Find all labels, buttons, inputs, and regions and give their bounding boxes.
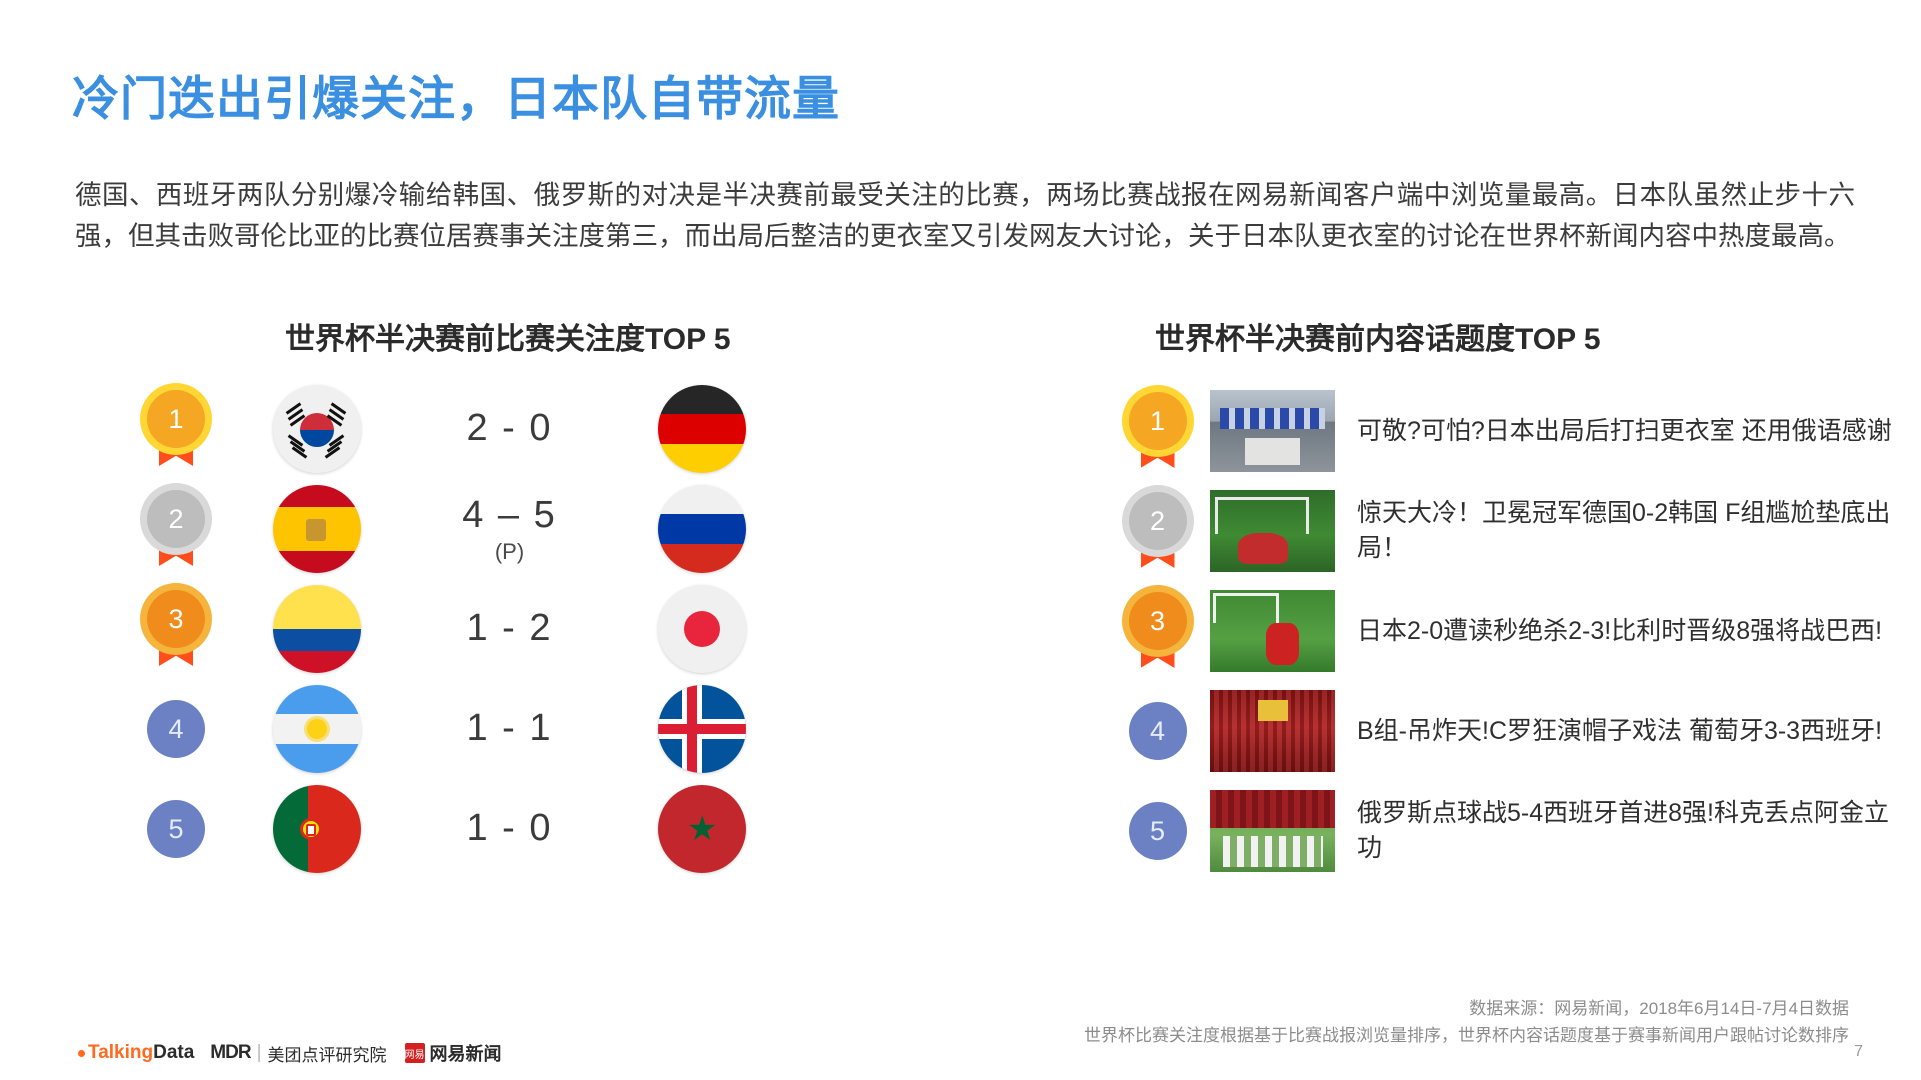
rank-cell: 5 [120, 800, 232, 858]
rank-cell: 4 [1105, 702, 1210, 760]
home-flag-cell [232, 785, 402, 873]
home-flag-cell [232, 485, 402, 573]
list-item[interactable]: 4 B组-吊炸天!C罗狂演帽子戏法 葡萄牙3-3西班牙! [1105, 682, 1905, 780]
iceland-flag [658, 685, 746, 773]
japan-flag [658, 585, 746, 673]
rank-cell: 2 [1105, 492, 1210, 570]
flag-cross-red [658, 724, 746, 734]
korea-flag [273, 385, 361, 473]
match-row: 2 4 – 5 (P) [120, 480, 940, 578]
score-cell: 1 - 2 [402, 607, 617, 652]
argentina-flag [273, 685, 361, 773]
talkingdata-logo: TalkingData [78, 1042, 194, 1064]
rank-cell: 2 [120, 490, 232, 568]
talkingdata-accent: Talking [88, 1042, 153, 1064]
rank-cell: 3 [1105, 592, 1210, 670]
flag-band [273, 744, 361, 773]
locker-room-photo [1210, 390, 1335, 472]
rank-cell: 5 [1105, 802, 1210, 860]
morocco-star-icon: ★ [687, 815, 717, 845]
colombia-flag [273, 585, 361, 673]
logo-divider: | [257, 1042, 262, 1064]
red-crowd-photo [1210, 690, 1335, 772]
mdr-mark: MDR [210, 1042, 250, 1064]
match-row: 4 1 - 1 [120, 680, 940, 778]
flag-band [658, 444, 746, 473]
rank-badge: 4 [1129, 702, 1187, 760]
rank-number: 1 [147, 390, 205, 448]
gold-medal-icon: 1 [1129, 392, 1187, 470]
rank-badge: 5 [147, 800, 205, 858]
news-headline[interactable]: B组-吊炸天!C罗狂演帽子戏法 葡萄牙3-3西班牙! [1335, 714, 1905, 749]
flag-band [273, 585, 361, 629]
silver-medal-icon: 2 [147, 490, 205, 568]
source-line-2: 世界杯比赛关注度根据基于比赛战报浏览量排序，世界杯内容话题度基于赛事新闻用户跟帖… [649, 1022, 1849, 1049]
bronze-medal-icon: 3 [1129, 592, 1187, 670]
portugal-shield-icon [306, 824, 316, 836]
rank-number: 2 [1129, 492, 1187, 550]
news-topic-list: 1 可敬?可怕?日本出局后打扫更衣室 还用俄语感谢 2 惊天大冷！卫冕冠军德国0… [1105, 382, 1905, 882]
netease-text: 网易新闻 [430, 1040, 502, 1066]
spain-flag [273, 485, 361, 573]
goal-tackle-photo [1210, 490, 1335, 572]
flag-band [658, 544, 746, 573]
flag-cross-red [687, 685, 697, 773]
page-number: 7 [1854, 1043, 1863, 1061]
meituan-dianping-logo: MDR | 美团点评研究院 [210, 1041, 386, 1066]
news-headline[interactable]: 可敬?可怕?日本出局后打扫更衣室 还用俄语感谢 [1335, 414, 1905, 449]
rank-cell: 3 [120, 590, 232, 668]
away-flag-cell [617, 385, 787, 473]
netease-news-logo: 网易 网易新闻 [405, 1040, 502, 1066]
score-value: 1 - 0 [466, 807, 552, 850]
list-item[interactable]: 5 俄罗斯点球战5-4西班牙首进8强!科克丢点阿金立功 [1105, 782, 1905, 880]
celebration-photo [1210, 790, 1335, 872]
gold-medal-icon: 1 [147, 390, 205, 468]
home-flag-cell [232, 385, 402, 473]
flag-band [273, 629, 361, 651]
source-note: 数据来源：网易新闻，2018年6月14日-7月4日数据 世界杯比赛关注度根据基于… [649, 995, 1849, 1049]
russia-flag [658, 485, 746, 573]
score-cell: 2 - 0 [402, 407, 617, 452]
rank-cell: 4 [120, 700, 232, 758]
score-cell: 1 - 1 [402, 707, 617, 752]
silver-medal-icon: 2 [1129, 492, 1187, 570]
rank-number: 3 [147, 590, 205, 648]
score-value: 1 - 2 [466, 607, 552, 650]
left-section-heading: 世界杯半决赛前比赛关注度TOP 5 [285, 314, 731, 358]
home-flag-cell [232, 685, 402, 773]
match-row: 5 1 - 0 ★ [120, 780, 940, 878]
footer-logos: TalkingData MDR | 美团点评研究院 网易 网易新闻 [78, 1040, 502, 1066]
flag-band [658, 485, 746, 514]
match-row: 1 [120, 380, 940, 478]
news-headline[interactable]: 日本2-0遭读秒绝杀2-3!比利时晋级8强将战巴西! [1335, 614, 1905, 649]
match-row: 3 1 - 2 [120, 580, 940, 678]
rank-number: 1 [1129, 392, 1187, 450]
spain-crest-icon [306, 519, 326, 541]
source-line-1: 数据来源：网易新闻，2018年6月14日-7月4日数据 [649, 995, 1849, 1022]
home-flag-cell [232, 585, 402, 673]
away-flag-cell [617, 685, 787, 773]
score-cell: 1 - 0 [402, 807, 617, 852]
score-cell: 4 – 5 (P) [402, 494, 617, 565]
news-headline[interactable]: 惊天大冷！卫冕冠军德国0-2韩国 F组尴尬垫底出局！ [1335, 496, 1905, 566]
mdr-text: 美团点评研究院 [268, 1041, 387, 1066]
flag-band [658, 514, 746, 543]
slide-canvas: 冷门迭出引爆关注，日本队自带流量 德国、西班牙两队分别爆冷输给韩国、俄罗斯的对决… [0, 0, 1921, 1080]
japan-belgium-photo [1210, 590, 1335, 672]
score-value: 1 - 1 [466, 707, 552, 750]
germany-flag [658, 385, 746, 473]
flag-band [273, 685, 361, 714]
score-value: 2 - 0 [466, 407, 552, 450]
portugal-flag [273, 785, 361, 873]
list-item[interactable]: 3 日本2-0遭读秒绝杀2-3!比利时晋级8强将战巴西! [1105, 582, 1905, 680]
rank-number: 2 [147, 490, 205, 548]
flag-band [658, 414, 746, 443]
flag-band [273, 651, 361, 673]
score-value: 4 – 5 [462, 494, 557, 537]
rank-cell: 1 [120, 390, 232, 468]
away-flag-cell [617, 585, 787, 673]
netease-mark-icon: 网易 [405, 1043, 425, 1063]
bronze-medal-icon: 3 [147, 590, 205, 668]
rank-number: 3 [1129, 592, 1187, 650]
rank-badge: 4 [147, 700, 205, 758]
talkingdata-rest: Data [153, 1042, 194, 1064]
list-item[interactable]: 2 惊天大冷！卫冕冠军德国0-2韩国 F组尴尬垫底出局！ [1105, 482, 1905, 580]
rank-cell: 1 [1105, 392, 1210, 470]
intro-paragraph: 德国、西班牙两队分别爆冷输给韩国、俄罗斯的对决是半决赛前最受关注的比赛，两场比赛… [75, 175, 1855, 257]
japan-sun-disc [684, 611, 720, 647]
flag-band [273, 485, 361, 507]
score-note: (P) [495, 539, 524, 565]
rank-badge: 5 [1129, 802, 1187, 860]
right-section-heading: 世界杯半决赛前内容话题度TOP 5 [1155, 314, 1601, 358]
logo-dot-icon [78, 1050, 85, 1057]
flag-band [658, 385, 746, 414]
list-item[interactable]: 1 可敬?可怕?日本出局后打扫更衣室 还用俄语感谢 [1105, 382, 1905, 480]
flag-band [273, 551, 361, 573]
away-flag-cell: ★ [617, 785, 787, 873]
page-title: 冷门迭出引爆关注，日本队自带流量 [72, 60, 840, 129]
news-headline[interactable]: 俄罗斯点球战5-4西班牙首进8强!科克丢点阿金立功 [1335, 796, 1905, 866]
match-attention-list: 1 [120, 380, 940, 880]
away-flag-cell [617, 485, 787, 573]
morocco-flag: ★ [658, 785, 746, 873]
argentina-sun-icon [307, 719, 327, 739]
